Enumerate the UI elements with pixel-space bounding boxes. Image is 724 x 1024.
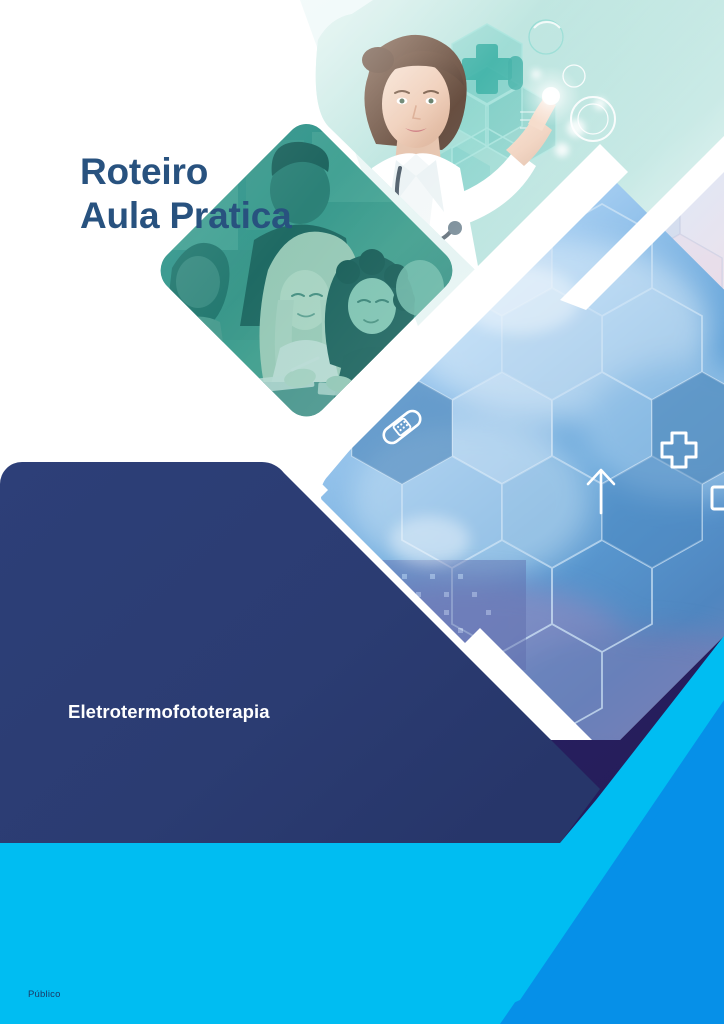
classification-label: Público — [28, 989, 61, 1000]
subject-subtitle: Eletrotermofototerapia — [68, 701, 270, 723]
document-cover-page: Roteiro Aula Pratica Eletrotermofototera… — [0, 0, 724, 1024]
cover-artwork — [0, 0, 724, 1024]
